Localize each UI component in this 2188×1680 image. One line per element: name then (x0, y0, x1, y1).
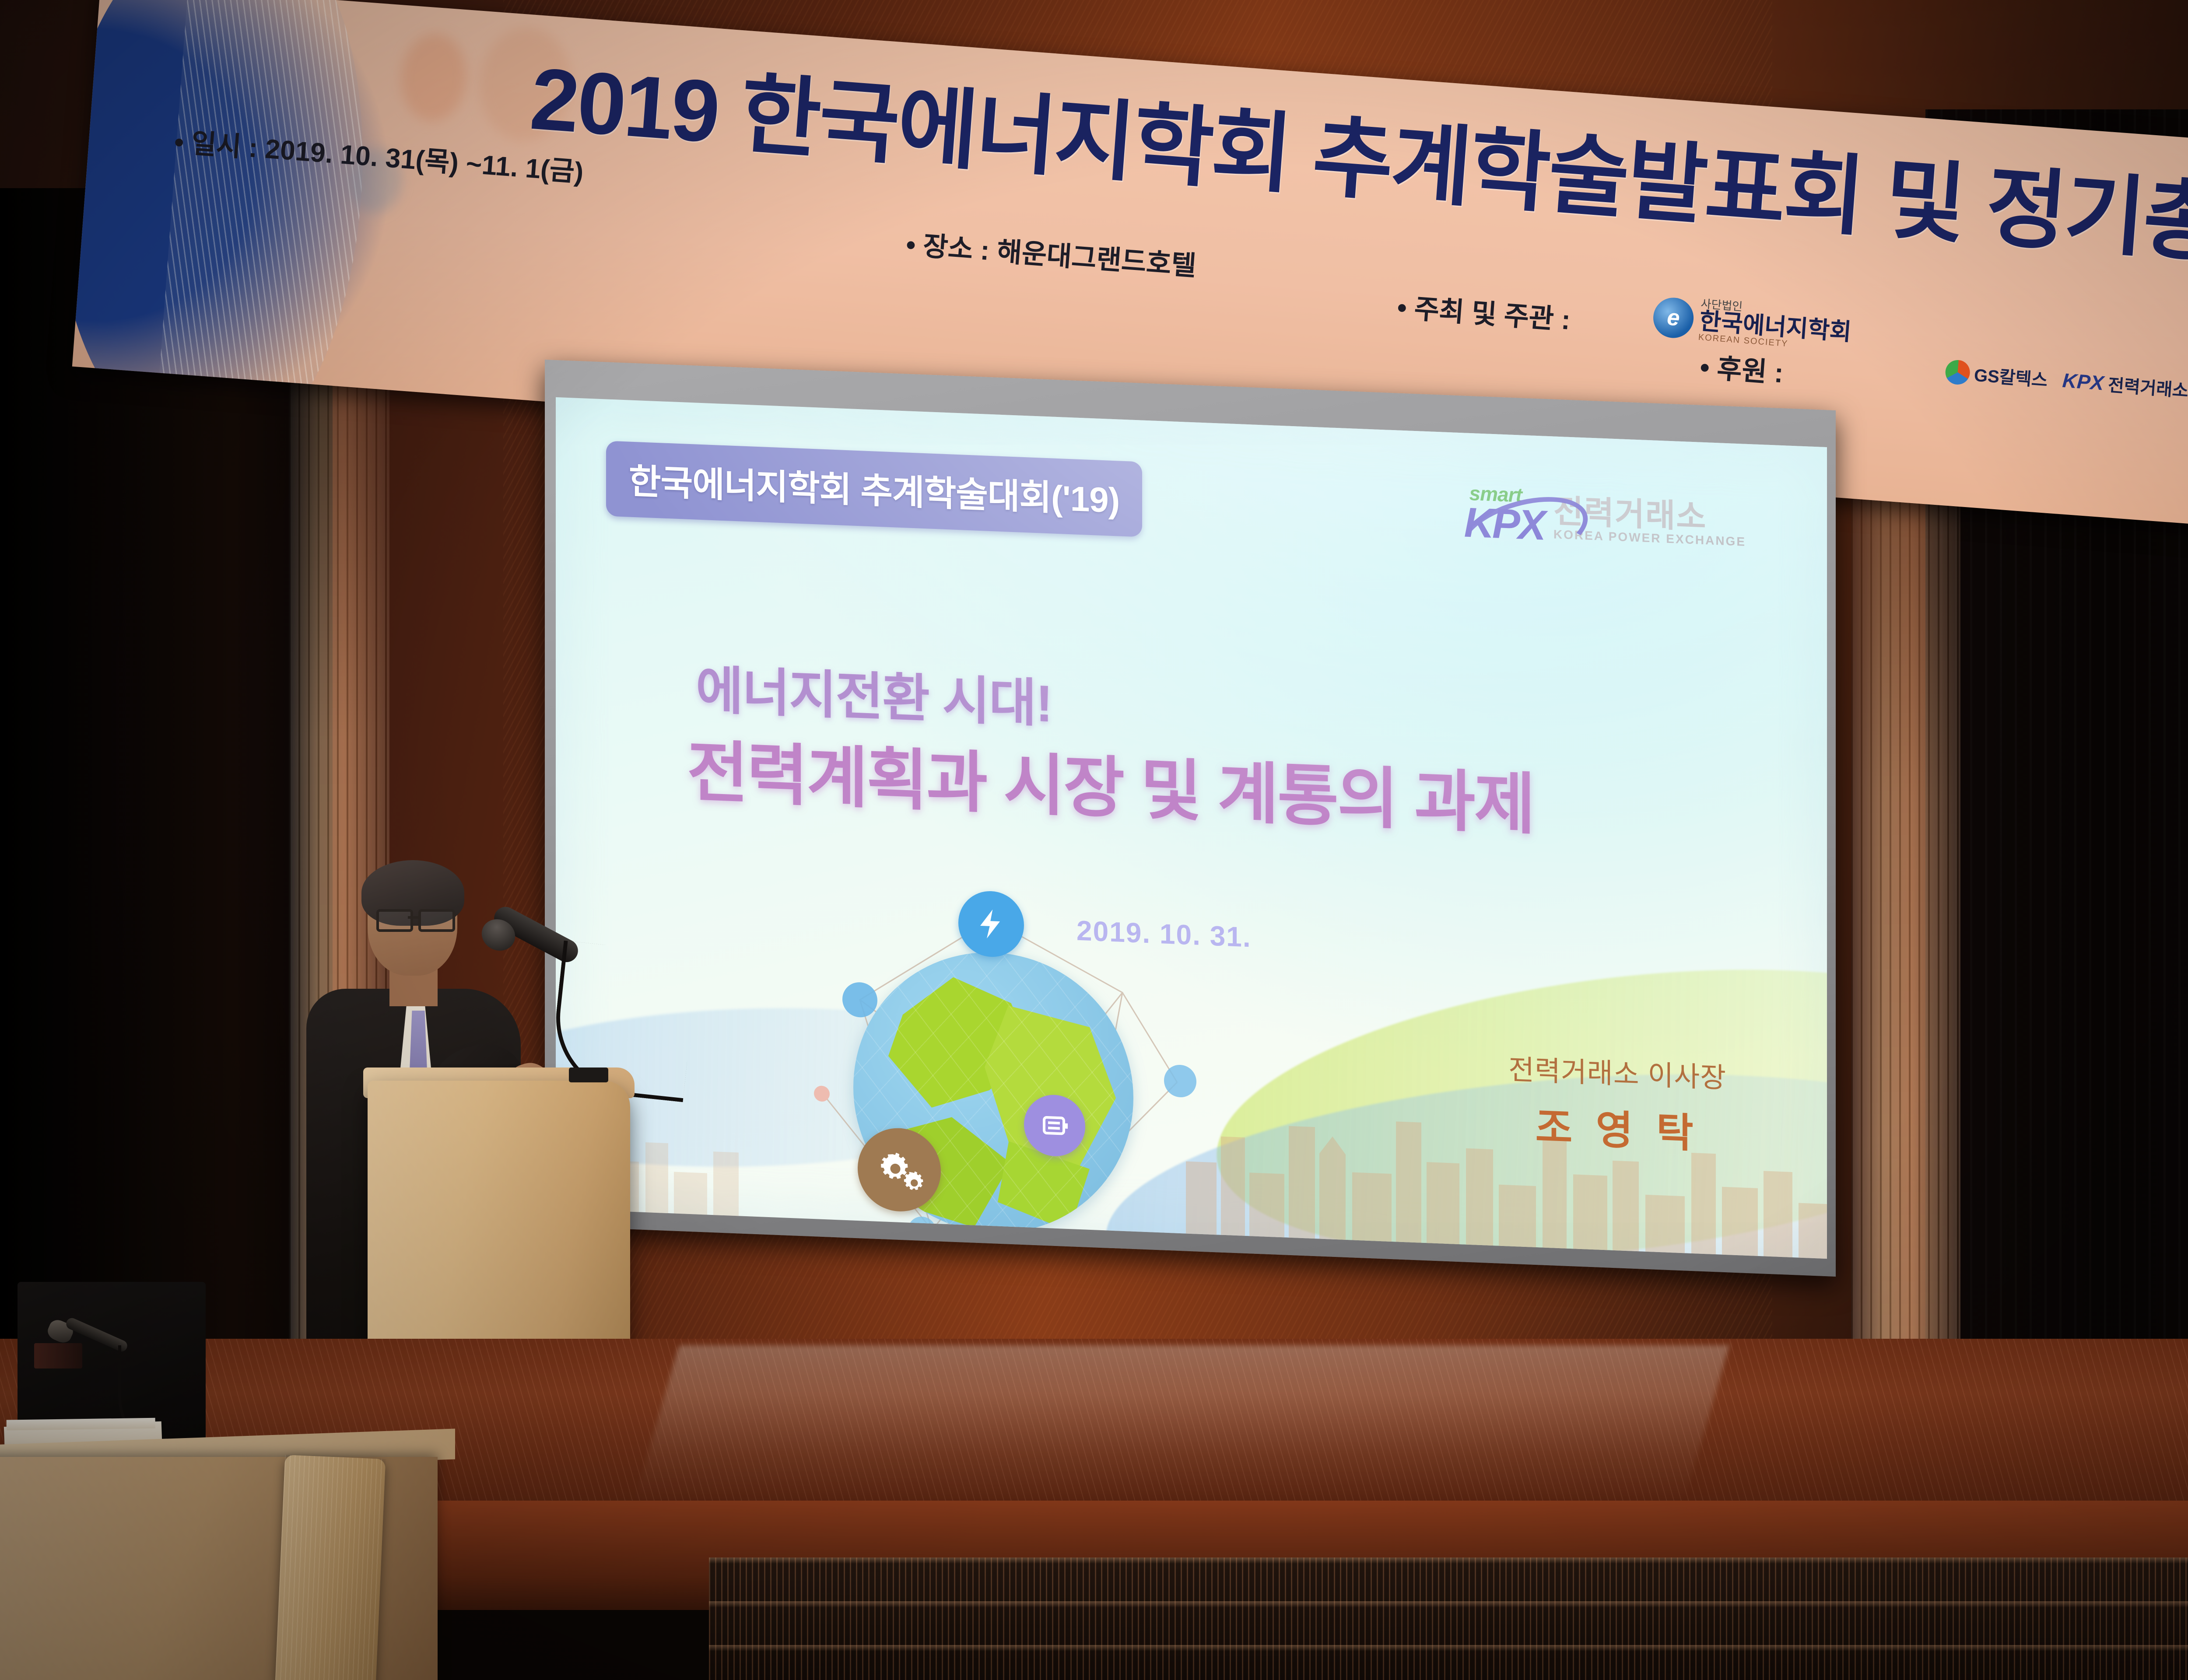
eyeglasses-icon (376, 909, 457, 927)
host-emblem-icon: e (1652, 296, 1695, 339)
banner-venue: • 장소 : 해운대그랜드호텔 (905, 222, 1198, 283)
sponsor-kpx-label: 전력거래소 (2107, 371, 2188, 402)
slide-speaker-block: 전력거래소 이사장 조 영 탁 (1508, 1047, 1726, 1160)
slide-speaker-role: 전력거래소 이사장 (1508, 1047, 1726, 1096)
slide-title-line2: 전력계획과 시장 및 계통의 과제 (687, 717, 1534, 847)
gs-caltex-icon (1945, 359, 1971, 385)
city-skyline-right (1177, 1095, 1827, 1259)
sponsor-gs-caltex-label: GS칼텍스 (1973, 361, 2048, 392)
slide-conference-badge: 한국에너지학회 추계학술대회('19) (606, 441, 1142, 537)
sponsor-logo-row: GS칼텍스 KPX 전력거래소 SK 가스 한국아이티오 (주) 한국가스공사 (1945, 359, 2188, 461)
conference-stage-scene: 2019 한국에너지학회 추계학술발표회 및 정기총회 • 일시 : 2019.… (0, 0, 2188, 1680)
handheld-microphone (490, 923, 674, 1054)
wooden-chair-back (275, 1455, 386, 1680)
slide-speaker-name: 조 영 탁 (1508, 1093, 1726, 1160)
slide-date: 2019. 10. 31. (1076, 914, 1252, 954)
stage-steps (709, 1557, 2188, 1680)
network-node-5 (814, 1085, 830, 1102)
podium-clip (569, 1067, 608, 1082)
banner-host-label: • 주최 및 주관 : (1396, 285, 1572, 337)
kpx-logo: smart KPX 전력거래소 KOREA POWER EXCHANGE (1464, 481, 1746, 551)
slide-badge-label: 한국에너지학회 추계학술대회('19) (629, 462, 1119, 520)
stage-floor-reflection (634, 1345, 1729, 1503)
step-tread-3 (709, 1645, 2188, 1651)
banner-sponsor-label: • 후원 : (1699, 345, 1785, 390)
sponsor-kpx: KPX 전력거래소 (2062, 367, 2188, 402)
presentation-slide: 한국에너지학회 추계학술대회('19) smart KPX 전력거래소 KORE… (556, 397, 1827, 1259)
step-tread-2 (709, 1601, 2188, 1607)
banner-bokeh-1 (398, 31, 470, 124)
host-organization-logo: e 사단법인 한국에너지학회 KOREAN SOCIETY (1652, 294, 1853, 353)
kpx-icon: KPX (2062, 368, 2104, 395)
sponsor-gs-caltex: GS칼텍스 (1945, 359, 2049, 392)
step-carpet-texture (709, 1557, 2188, 1680)
step-tread-1 (709, 1557, 2188, 1564)
